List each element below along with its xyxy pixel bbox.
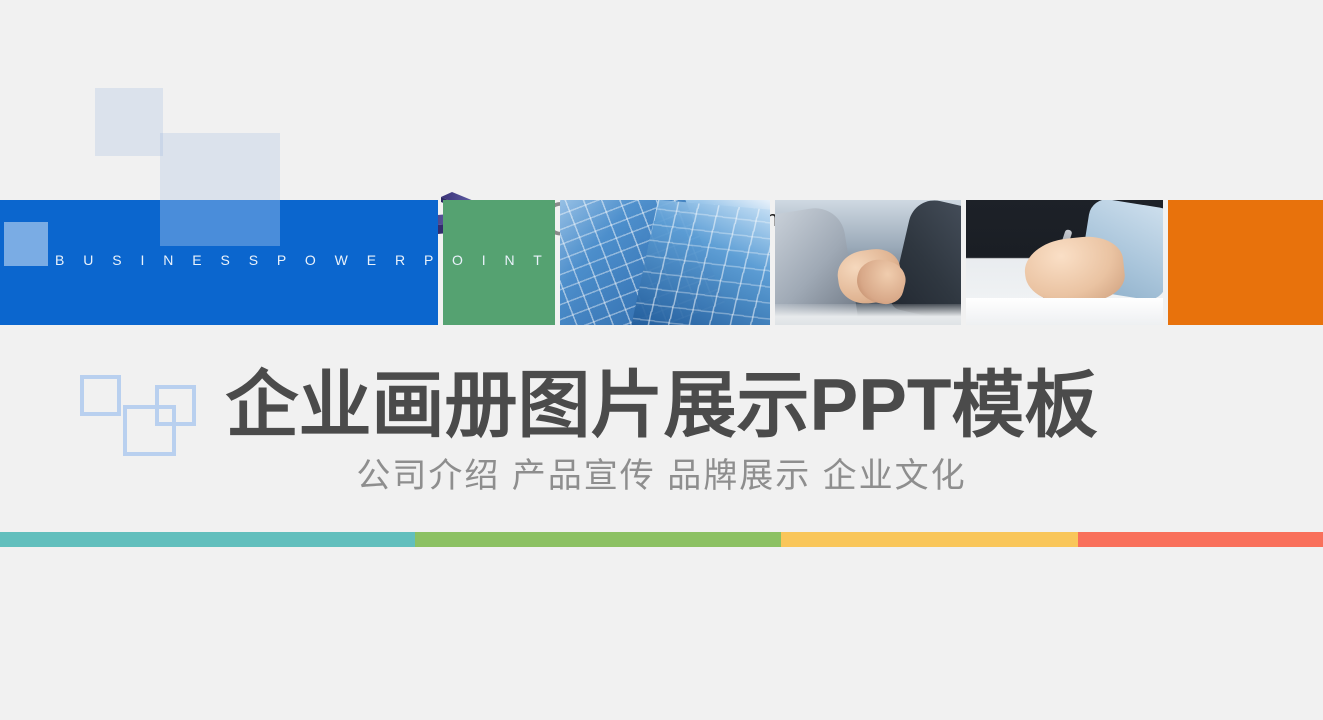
- page-title: 企业画册图片展示PPT模板: [0, 362, 1323, 450]
- orange-panel: [1168, 200, 1323, 325]
- banner-label: B U S I N E S S P O W E R P O I N T: [55, 252, 549, 268]
- green-segment: [415, 532, 781, 547]
- banner-accent-square-left: [4, 222, 48, 266]
- slide-header: LOGO askpanda问盼答: [0, 86, 1323, 176]
- presentation-slide: LOGO askpanda问盼答: [0, 0, 1323, 720]
- yellow-segment: [781, 532, 1078, 547]
- glass-building-photo: [560, 200, 770, 325]
- accent-bar: [0, 532, 1323, 547]
- handshake-photo: [775, 200, 961, 325]
- banner-accent-square-mid: [160, 200, 280, 246]
- signing-document-photo: [966, 200, 1163, 325]
- page-subtitle: 公司介绍 产品宣传 品牌展示 企业文化: [0, 452, 1323, 500]
- red-segment: [1078, 532, 1323, 547]
- teal-segment: [0, 532, 415, 547]
